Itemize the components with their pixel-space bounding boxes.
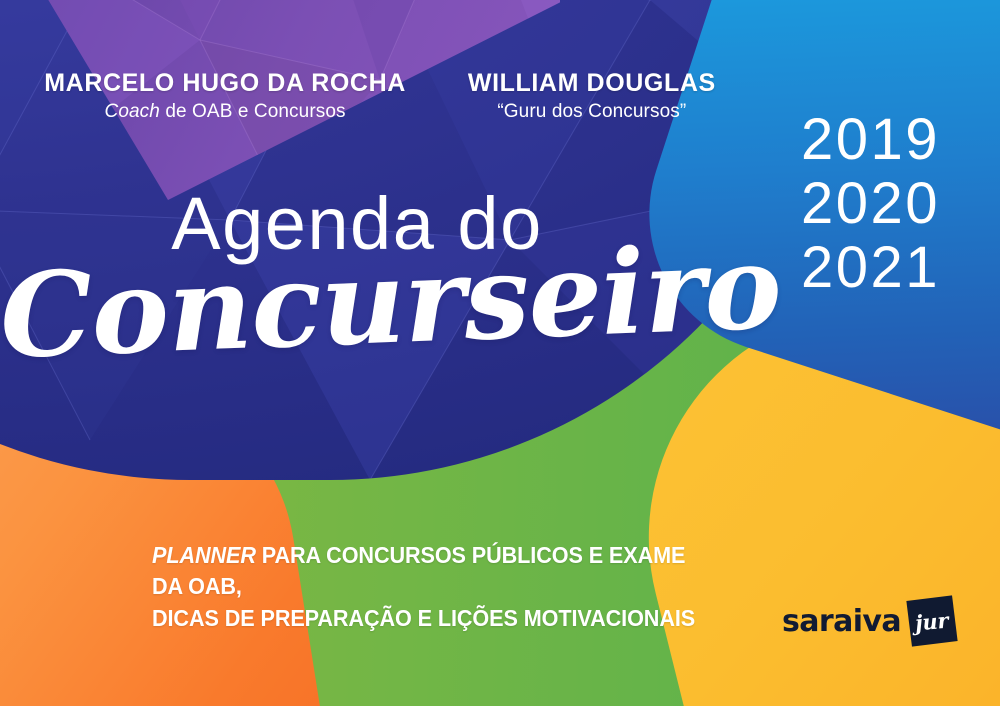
year-2020: 2020: [700, 172, 940, 236]
subtitle-emphasis: PLANNER: [152, 542, 256, 568]
publisher-badge: jur: [906, 595, 957, 646]
year-2021: 2021: [700, 236, 940, 300]
publisher-badge-label: jur: [914, 607, 949, 635]
years-list: 2019 2020 2021: [700, 108, 940, 299]
title-script-concurseiro: Concurseiro: [0, 238, 782, 368]
year-2019: 2019: [700, 108, 940, 172]
publisher-logo: saraiva jur: [782, 598, 955, 644]
title-block: Agenda do Concurseiro: [0, 188, 700, 352]
subtitle-line-2: DICAS DE PREPARAÇÃO E LIÇÕES MOTIVACIONA…: [152, 605, 695, 631]
book-cover: MARCELO HUGO DA ROCHA Coach de OAB e Con…: [0, 0, 1000, 706]
publisher-wordmark: saraiva: [782, 604, 901, 639]
subtitle: PLANNER PARA CONCURSOS PÚBLICOS E EXAME …: [152, 540, 704, 634]
